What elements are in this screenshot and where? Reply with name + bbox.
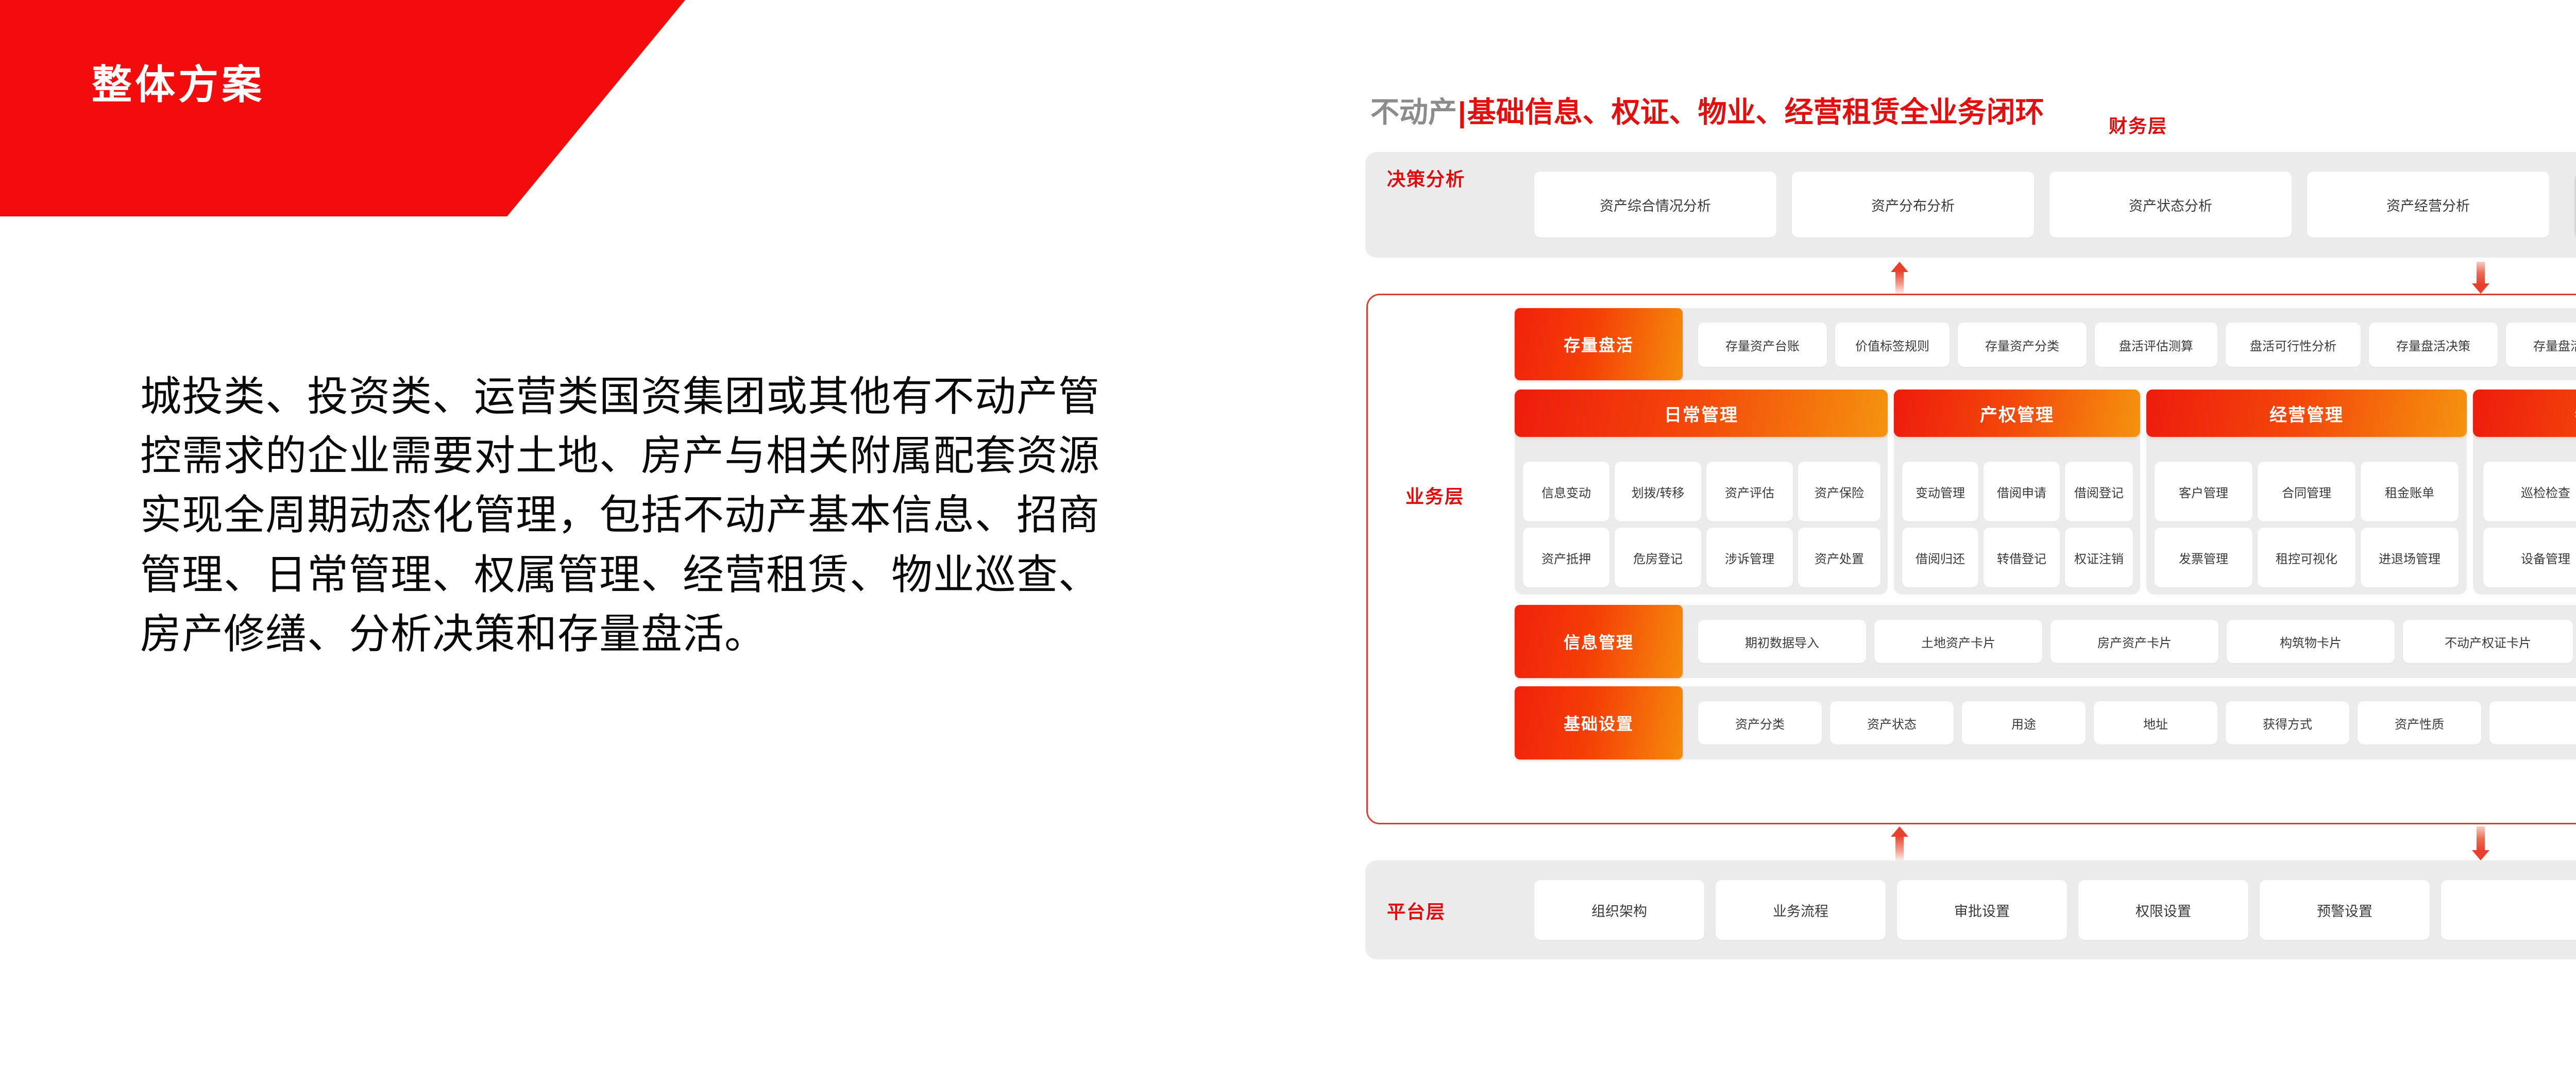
info-item-1[interactable]: 土地资产卡片 bbox=[1874, 620, 2042, 663]
daily-item-3[interactable]: 资产保险 bbox=[1798, 462, 1880, 521]
platform-item-5[interactable]: …… bbox=[2441, 880, 2576, 940]
column-head-daily[interactable]: 日常管理 bbox=[1515, 390, 1888, 437]
basic-item-0[interactable]: 资产分类 bbox=[1698, 701, 1822, 745]
property-item-2[interactable]: 借阅登记 bbox=[2065, 462, 2133, 521]
platform-item-2[interactable]: 审批设置 bbox=[1897, 880, 2067, 940]
revitalize-item-2[interactable]: 存量资产分类 bbox=[1958, 323, 2087, 367]
info-item-2[interactable]: 房产资产卡片 bbox=[2050, 620, 2218, 663]
basic-item-2[interactable]: 用途 bbox=[1962, 701, 2086, 745]
operations-item-2[interactable]: 租金账单 bbox=[2361, 462, 2459, 521]
facility-item-0[interactable]: 巡检检查 bbox=[2483, 462, 2576, 521]
platform-layer-label: 平台层 bbox=[1387, 903, 1490, 921]
finance-layer-label: 财务层 bbox=[1365, 111, 2576, 138]
daily-item-1[interactable]: 划拨/转移 bbox=[1615, 462, 1701, 521]
architecture-diagram: 不动产|基础信息、权证、物业、经营租赁全业务闭环 决策分析 资产综合情况分析 资… bbox=[1365, 98, 2576, 994]
property-item-1[interactable]: 借阅申请 bbox=[1984, 462, 2060, 521]
daily-item-0[interactable]: 信息变动 bbox=[1523, 462, 1609, 521]
arrow-down-from-decision bbox=[2472, 262, 2489, 294]
page-title: 整体方案 bbox=[92, 64, 265, 105]
decision-layer-label: 决策分析 bbox=[1387, 170, 1490, 189]
basic-item-4[interactable]: 获得方式 bbox=[2226, 701, 2349, 745]
basic-label[interactable]: 基础设置 bbox=[1515, 686, 1683, 759]
revitalize-item-4[interactable]: 盘活可行性分析 bbox=[2226, 323, 2361, 367]
arrow-up-to-decision bbox=[1891, 262, 1908, 294]
operations-item-4[interactable]: 租控可视化 bbox=[2258, 528, 2355, 587]
decision-item-2[interactable]: 资产状态分析 bbox=[2049, 172, 2292, 238]
info-item-0[interactable]: 期初数据导入 bbox=[1698, 620, 1866, 663]
operations-item-1[interactable]: 合同管理 bbox=[2258, 462, 2355, 521]
operations-item-0[interactable]: 客户管理 bbox=[2155, 462, 2252, 521]
platform-item-3[interactable]: 权限设置 bbox=[2078, 880, 2248, 940]
facility-item-2[interactable]: 设备管理 bbox=[2483, 528, 2576, 587]
arrow-up-from-platform bbox=[1891, 826, 1908, 860]
property-item-4[interactable]: 转借登记 bbox=[1984, 528, 2060, 587]
decision-item-0[interactable]: 资产综合情况分析 bbox=[1534, 172, 1776, 238]
revitalize-item-5[interactable]: 存量盘活决策 bbox=[2369, 323, 2498, 367]
hero-red-banner bbox=[0, 0, 685, 216]
column-head-operations[interactable]: 经营管理 bbox=[2146, 390, 2467, 437]
arrow-down-to-platform bbox=[2472, 826, 2489, 860]
daily-item-5[interactable]: 危房登记 bbox=[1615, 528, 1701, 587]
column-head-property-rights[interactable]: 产权管理 bbox=[1894, 390, 2140, 437]
decision-item-3[interactable]: 资产经营分析 bbox=[2307, 172, 2549, 238]
decision-item-1[interactable]: 资产分布分析 bbox=[1792, 172, 2034, 238]
basic-item-3[interactable]: 地址 bbox=[2094, 701, 2217, 745]
revitalize-item-1[interactable]: 价值标签规则 bbox=[1835, 323, 1950, 367]
intro-paragraph: 城投类、投资类、运营类国资集团或其他有不动产管控需求的企业需要对土地、房产与相关… bbox=[140, 367, 1114, 664]
revitalize-item-6[interactable]: 存量盘活分析 bbox=[2506, 323, 2576, 367]
daily-item-2[interactable]: 资产评估 bbox=[1706, 462, 1793, 521]
revitalize-item-0[interactable]: 存量资产台账 bbox=[1698, 323, 1827, 367]
info-label[interactable]: 信息管理 bbox=[1515, 605, 1683, 678]
platform-item-0[interactable]: 组织架构 bbox=[1534, 880, 1704, 940]
platform-item-1[interactable]: 业务流程 bbox=[1716, 880, 1886, 940]
daily-item-7[interactable]: 资产处置 bbox=[1798, 528, 1880, 587]
daily-item-6[interactable]: 涉诉管理 bbox=[1706, 528, 1793, 587]
basic-item-1[interactable]: 资产状态 bbox=[1830, 701, 1954, 745]
business-layer-label: 业务层 bbox=[1405, 487, 1509, 506]
property-item-5[interactable]: 权证注销 bbox=[2065, 528, 2133, 587]
property-item-0[interactable]: 变动管理 bbox=[1902, 462, 1978, 521]
daily-item-4[interactable]: 资产抵押 bbox=[1523, 528, 1609, 587]
column-head-facility[interactable]: 物业管理 bbox=[2473, 390, 2576, 437]
operations-item-5[interactable]: 进退场管理 bbox=[2361, 528, 2459, 587]
info-item-4[interactable]: 不动产权证卡片 bbox=[2403, 620, 2573, 663]
platform-item-4[interactable]: 预警设置 bbox=[2260, 880, 2430, 940]
basic-item-6[interactable]: …… bbox=[2489, 701, 2576, 745]
revitalize-label[interactable]: 存量盘活 bbox=[1515, 308, 1683, 380]
basic-item-5[interactable]: 资产性质 bbox=[2358, 701, 2481, 745]
operations-item-3[interactable]: 发票管理 bbox=[2155, 528, 2252, 587]
revitalize-item-3[interactable]: 盘活评估测算 bbox=[2095, 323, 2217, 367]
info-item-3[interactable]: 构筑物卡片 bbox=[2227, 620, 2395, 663]
property-item-3[interactable]: 借阅归还 bbox=[1902, 528, 1978, 587]
